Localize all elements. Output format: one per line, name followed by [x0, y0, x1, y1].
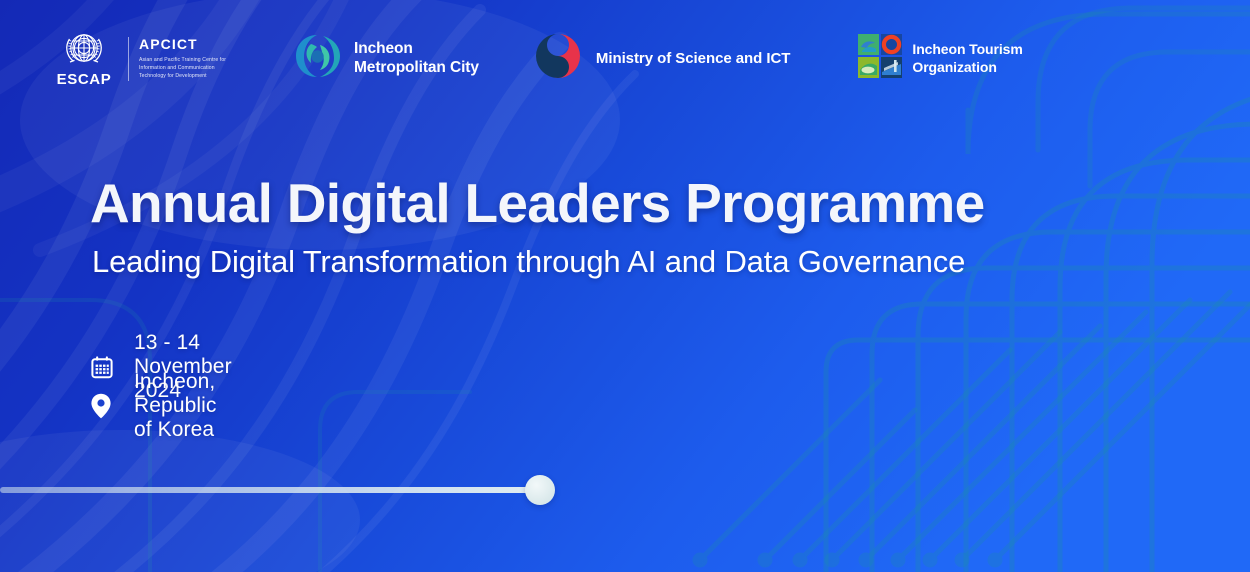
slider-track[interactable] — [0, 487, 540, 493]
escap-wordmark: ESCAP — [57, 72, 112, 87]
incheon-tourism-tiles-logo — [858, 34, 902, 83]
logo-ministry-of-science-and-ict: Ministry of Science and ICT — [534, 32, 791, 85]
incheon-label-line2: Metropolitan City — [354, 59, 479, 77]
event-banner: ESCAP APCICT Asian and Pacific Training … — [0, 0, 1250, 572]
progress-slider[interactable] — [0, 482, 1250, 498]
tourism-label-line2: Organization — [912, 59, 1022, 77]
calendar-icon — [90, 355, 134, 379]
tourism-label-line1: Incheon Tourism — [912, 41, 1022, 59]
un-escap-emblem: ESCAP — [48, 30, 120, 87]
incheon-swirl-logo — [293, 31, 343, 86]
apcict-title: APCICT — [139, 37, 235, 52]
logo-incheon-tourism-organization: Incheon Tourism Organization — [858, 34, 1022, 83]
slider-handle[interactable] — [525, 475, 555, 505]
location-pin-icon — [90, 393, 134, 419]
mosict-label: Ministry of Science and ICT — [596, 50, 791, 67]
partner-logo-strip: ESCAP APCICT Asian and Pacific Training … — [48, 30, 1023, 87]
event-location: Incheon, Republic of Korea — [134, 370, 232, 442]
page-title: Annual Digital Leaders Programme — [90, 176, 985, 231]
event-details: 13 - 14 November 2024 Incheon, Republic … — [90, 347, 232, 425]
apcict-subtitle: Asian and Pacific Training Centre for In… — [139, 56, 235, 81]
tourism-label: Incheon Tourism Organization — [912, 41, 1022, 76]
logo-un-escap-apcict: ESCAP APCICT Asian and Pacific Training … — [48, 30, 248, 87]
event-location-row: Incheon, Republic of Korea — [90, 386, 232, 425]
page-subtitle: Leading Digital Transformation through A… — [92, 243, 965, 282]
logo-divider — [128, 37, 129, 81]
incheon-label: Incheon Metropolitan City — [354, 40, 479, 77]
incheon-label-line1: Incheon — [354, 40, 479, 58]
logo-incheon-metropolitan-city: Incheon Metropolitan City — [293, 31, 479, 86]
taegeuk-logo — [534, 32, 582, 85]
